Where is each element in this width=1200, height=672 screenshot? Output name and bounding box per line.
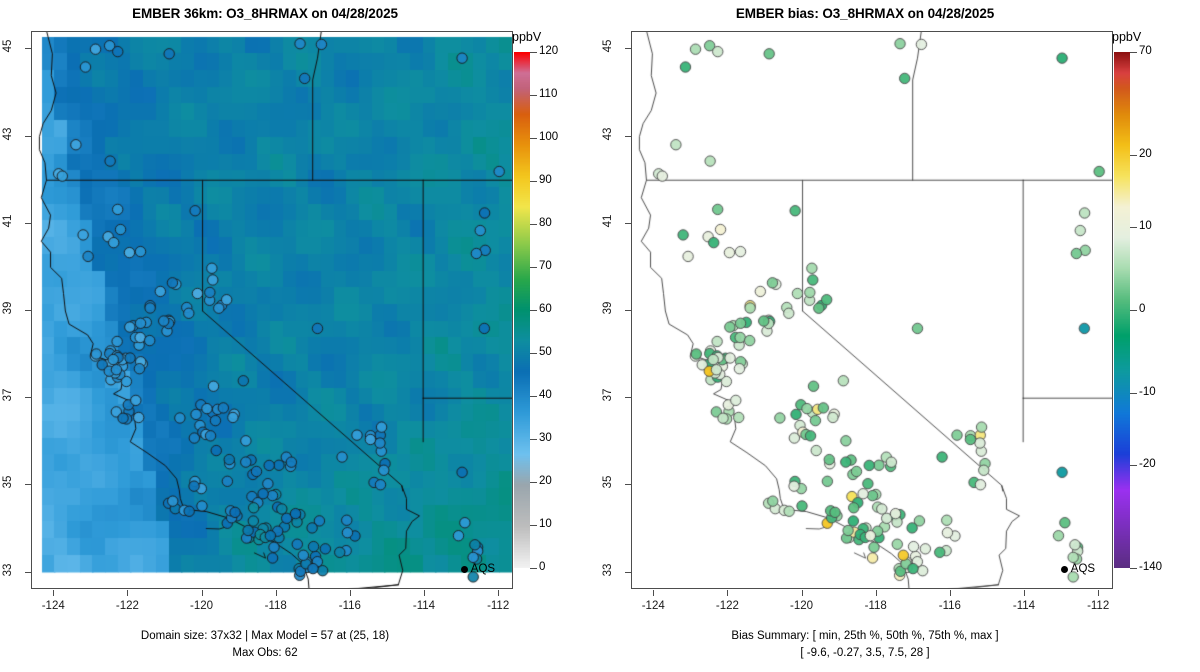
y-tick-mark [625,484,631,485]
aqs-legend-model: AQS [461,563,495,575]
y-tick-label: 39 [2,293,14,323]
colorbar-gradient [1114,52,1130,568]
y-tick-label: 45 [2,31,14,61]
x-tick-label: -118 [256,600,296,612]
y-tick-label: 37 [2,380,14,410]
y-tick-mark [625,48,631,49]
panel-model: EMBER 36km: O3_8HRMAX on 04/28/2025 -124… [0,0,600,672]
x-tick-mark [53,590,54,596]
colorbar-tick-label: 100 [539,131,558,143]
x-tick-label: -114 [1004,600,1044,612]
colorbar-tick-label: -140 [1139,561,1162,573]
colorbar-tick-mark [530,267,537,268]
colorbar-tick-label: 60 [539,303,552,315]
x-tick-label: -118 [856,600,896,612]
x-tick-label: -124 [33,600,73,612]
colorbar-tick-mark [1130,393,1137,394]
colorbar-tick-label: 90 [539,174,552,186]
x-axis-model: -124-122-120-118-116-114-112 [31,590,513,616]
x-tick-mark [424,590,425,596]
colorbar-tick-label: 20 [1139,148,1152,160]
x-tick-mark [350,590,351,596]
x-tick-mark [802,590,803,596]
y-tick-label: 33 [2,555,14,585]
colorbar-tick-mark [530,353,537,354]
colorbar-tick-mark [530,396,537,397]
x-tick-label: -116 [330,600,370,612]
colorbar-tick-label: 70 [539,260,552,272]
y-tick-mark [25,223,31,224]
colorbar-gradient [514,52,530,568]
map-plot-bias[interactable] [631,31,1113,589]
y-tick-mark [25,136,31,137]
colorbar-tick-label: 80 [539,217,552,229]
colorbar-tick-label: -20 [1139,458,1156,470]
x-tick-mark [498,590,499,596]
figure-root: EMBER 36km: O3_8HRMAX on 04/28/2025 -124… [0,0,1200,672]
colorbar-tick-mark [1130,465,1137,466]
caption-model-line2: Max Obs: 62 [0,647,530,659]
x-tick-mark [202,590,203,596]
colorbar-unit-label: ppbV [512,30,541,44]
colorbar-tick-mark [1130,155,1137,156]
aqs-legend-label: AQS [1071,563,1095,575]
x-tick-label: -120 [782,600,822,612]
aqs-legend-bias: AQS [1061,563,1095,575]
x-tick-label: -120 [182,600,222,612]
x-tick-mark [1098,590,1099,596]
colorbar-tick-label: 30 [539,432,552,444]
panel-bias: EMBER bias: O3_8HRMAX on 04/28/2025 -124… [600,0,1200,672]
colorbar-tick-mark [1130,310,1137,311]
colorbar-tick-mark [530,52,537,53]
colorbar-tick-label: 0 [1139,303,1145,315]
y-tick-mark [25,484,31,485]
aqs-legend-label: AQS [471,563,495,575]
x-tick-mark [127,590,128,596]
colorbar-tick-label: 20 [539,475,552,487]
colorbar-model: ppbV0102030405060708090100110120 [512,30,592,576]
caption-model-line1: Domain size: 37x32 | Max Model = 57 at (… [0,630,530,642]
colorbar-tick-mark [530,95,537,96]
y-tick-mark [25,572,31,573]
colorbar-bias: ppbV-140-20-100102070 [1112,30,1192,576]
caption-bias-line2: [ -9.6, -0.27, 3.5, 7.5, 28 ] [600,647,1130,659]
colorbar-tick-label: 120 [539,45,558,57]
colorbar-tick-mark [1130,568,1137,569]
y-tick-label: 35 [2,467,14,497]
colorbar-tick-mark [1130,227,1137,228]
y-tick-label: 33 [602,555,614,585]
x-tick-label: -114 [404,600,444,612]
y-tick-mark [625,572,631,573]
x-tick-label: -124 [633,600,673,612]
colorbar-tick-mark [530,568,537,569]
y-axis-model: 33353739414345 [1,31,31,589]
y-tick-mark [625,136,631,137]
x-tick-mark [876,590,877,596]
x-tick-label: -112 [1078,600,1118,612]
y-axis-bias: 33353739414345 [601,31,631,589]
x-tick-mark [727,590,728,596]
x-tick-mark [653,590,654,596]
colorbar-tick-mark [530,525,537,526]
colorbar-tick-label: 10 [539,518,552,530]
aqs-marker-icon [461,566,468,573]
y-tick-label: 45 [602,31,614,61]
x-tick-mark [950,590,951,596]
colorbar-tick-mark [530,310,537,311]
colorbar-tick-label: -10 [1139,386,1156,398]
colorbar-tick-mark [530,482,537,483]
y-tick-label: 43 [602,119,614,149]
colorbar-tick-mark [530,224,537,225]
x-tick-label: -122 [707,600,747,612]
map-plot-model[interactable] [31,31,513,589]
caption-bias-line1: Bias Summary: [ min, 25th %, 50th %, 75t… [600,630,1130,642]
y-tick-label: 35 [602,467,614,497]
x-axis-bias: -124-122-120-118-116-114-112 [631,590,1113,616]
y-tick-mark [625,223,631,224]
y-tick-label: 37 [602,380,614,410]
colorbar-tick-label: 10 [1139,220,1152,232]
colorbar-tick-mark [530,138,537,139]
y-tick-mark [625,310,631,311]
colorbar-tick-label: 50 [539,346,552,358]
y-tick-mark [25,397,31,398]
colorbar-tick-label: 110 [539,88,557,100]
x-tick-label: -112 [478,600,518,612]
colorbar-tick-mark [530,439,537,440]
y-tick-label: 43 [2,119,14,149]
y-tick-label: 41 [2,206,14,236]
y-tick-label: 41 [602,206,614,236]
colorbar-unit-label: ppbV [1112,30,1141,44]
colorbar-tick-label: 70 [1139,45,1152,57]
x-tick-mark [1024,590,1025,596]
x-tick-mark [276,590,277,596]
panel-title-bias: EMBER bias: O3_8HRMAX on 04/28/2025 [600,6,1130,21]
y-tick-label: 39 [602,293,614,323]
x-tick-label: -116 [930,600,970,612]
colorbar-tick-label: 40 [539,389,552,401]
y-tick-mark [625,397,631,398]
colorbar-tick-label: 0 [539,561,545,573]
x-tick-label: -122 [107,600,147,612]
y-tick-mark [25,48,31,49]
y-tick-mark [25,310,31,311]
colorbar-tick-mark [530,181,537,182]
colorbar-tick-mark [1130,52,1137,53]
aqs-marker-icon [1061,566,1068,573]
panel-title-model: EMBER 36km: O3_8HRMAX on 04/28/2025 [0,6,530,21]
